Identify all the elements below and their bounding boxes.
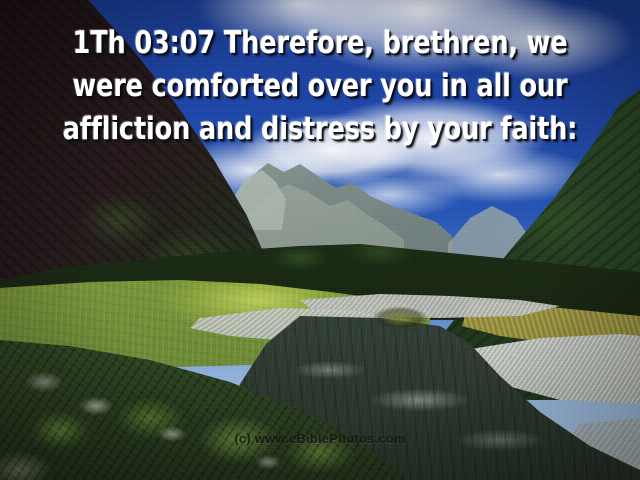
vignette-overlay xyxy=(0,0,640,480)
verse-image: 1Th 03:07 Therefore, brethren, we were c… xyxy=(0,0,640,480)
